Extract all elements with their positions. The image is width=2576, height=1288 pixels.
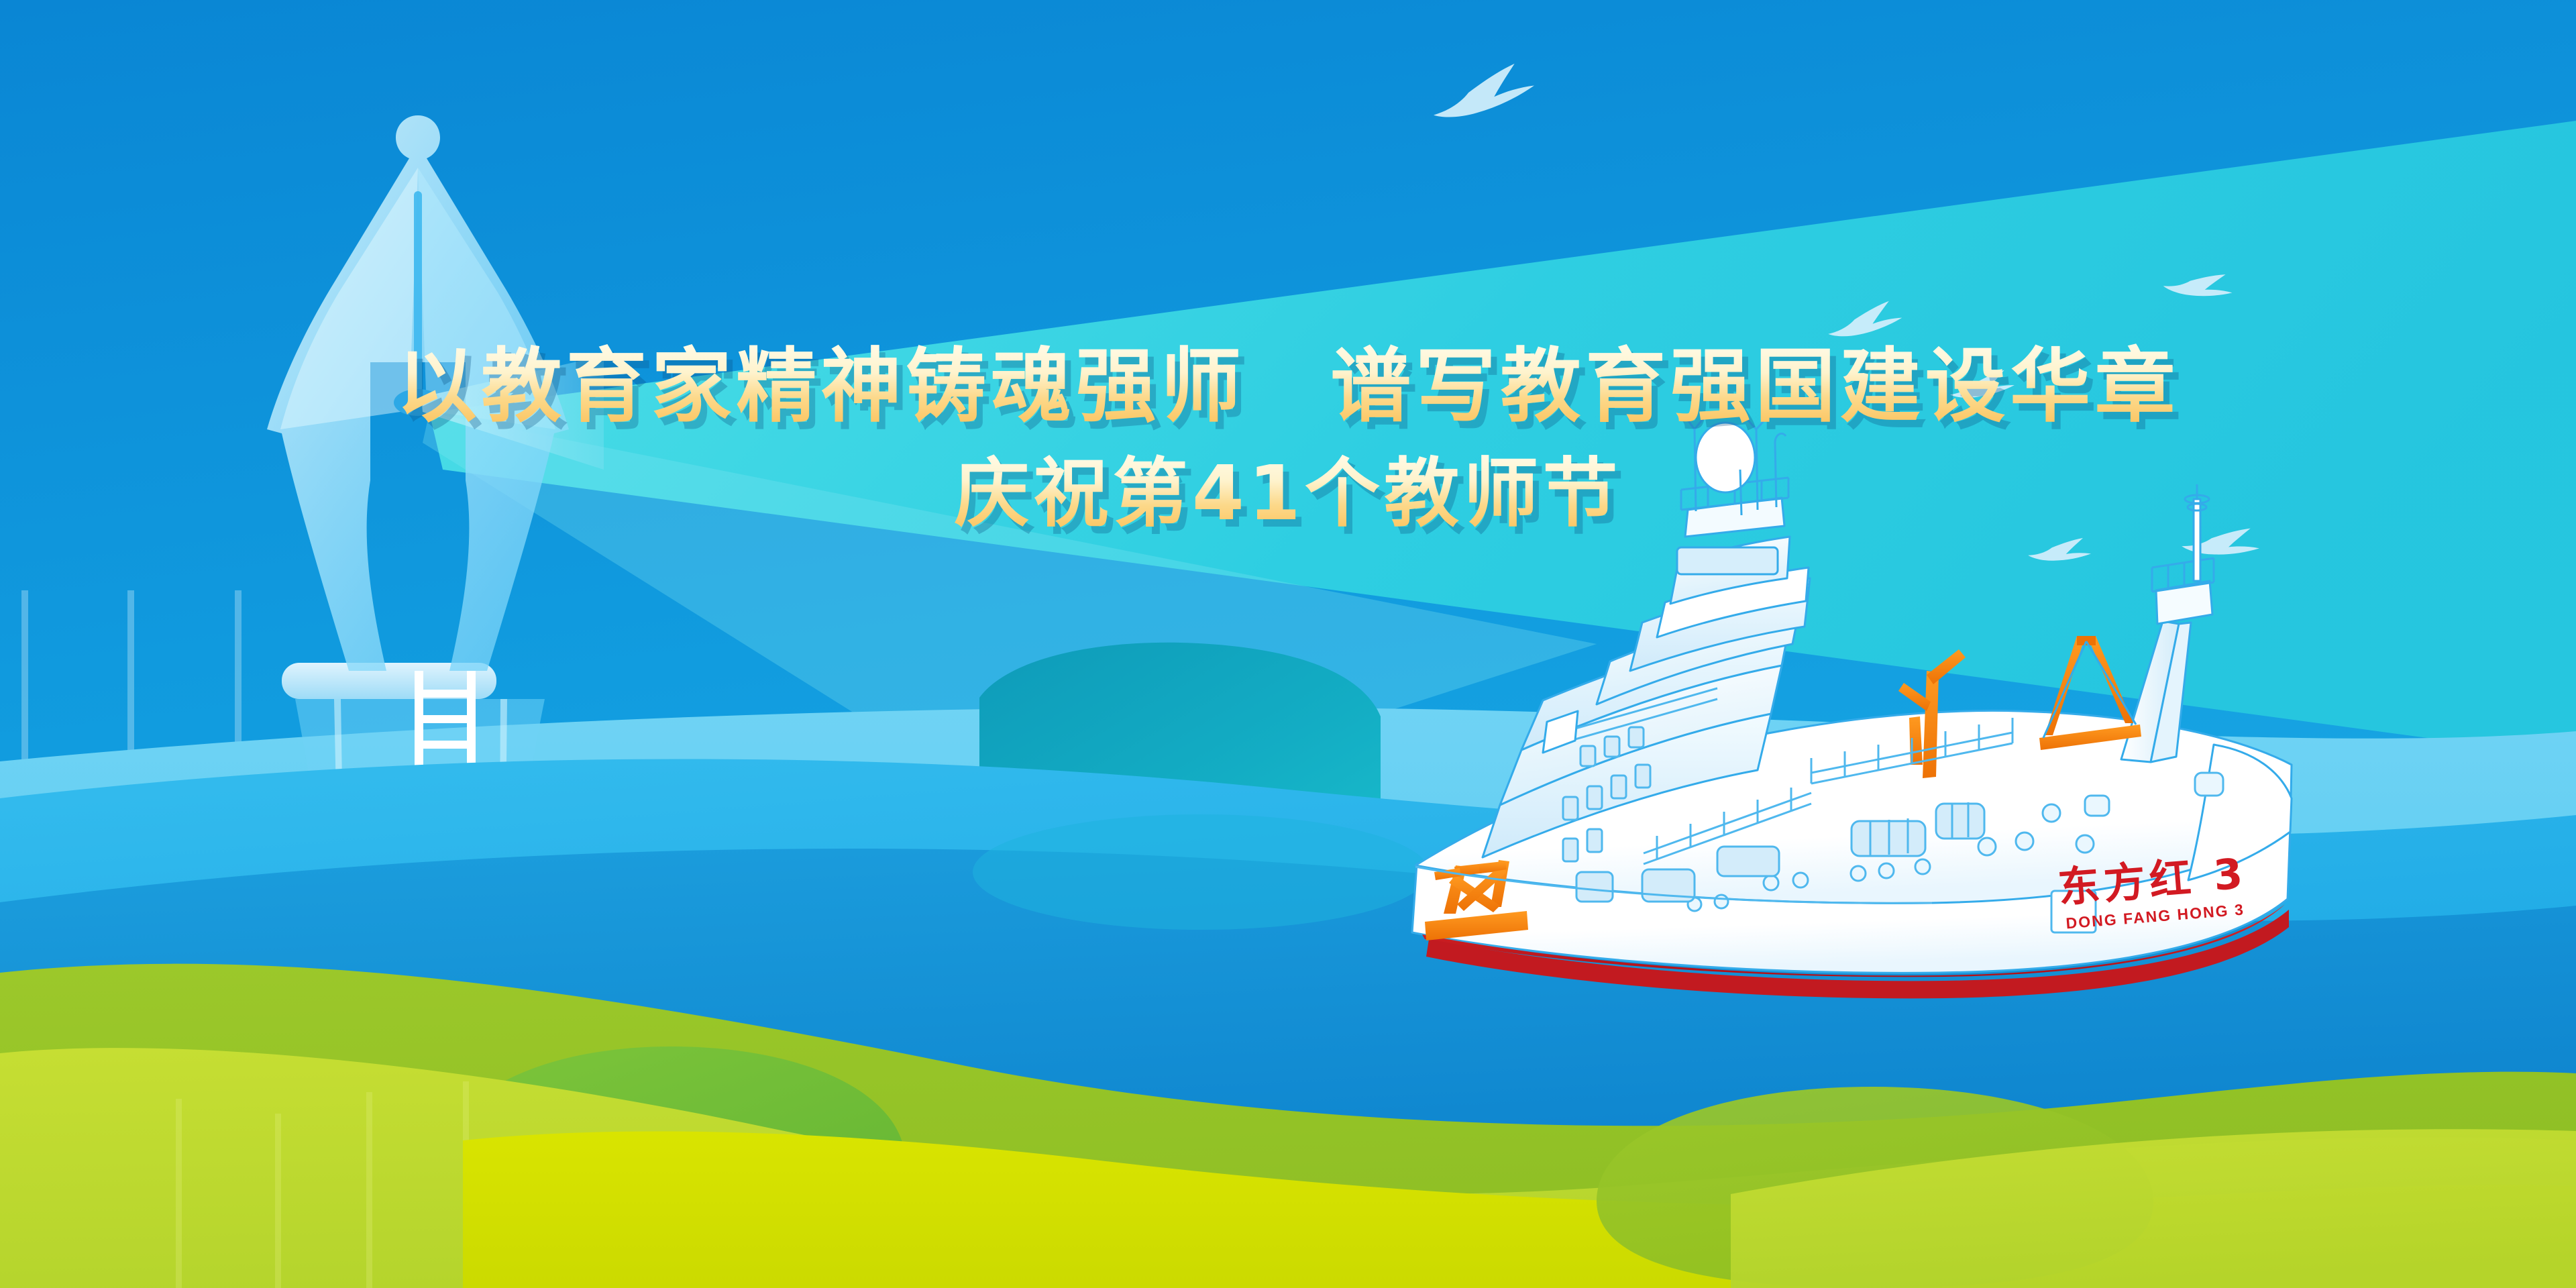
poster-canvas: 东方红 3 DONG FANG HONG 3 以教育家精神铸魂强师 谱写教育强国… (0, 0, 2576, 1288)
radar-dome (1696, 423, 1755, 492)
wheelhouse-windows (1677, 547, 1778, 574)
gantry-apex (2077, 636, 2096, 645)
research-vessel-dongfanghong3 (0, 0, 2576, 1288)
vessel-group (1412, 415, 2292, 998)
